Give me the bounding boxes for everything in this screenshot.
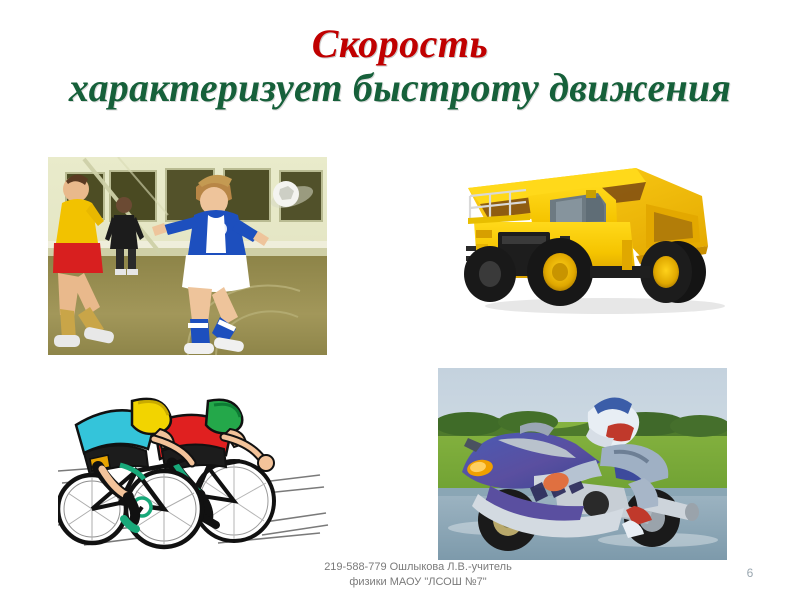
slide-canvas: Скорость характеризует быстроту движения xyxy=(0,0,800,600)
motorcycle-graphic xyxy=(438,368,727,560)
football-photo-graphic xyxy=(48,157,327,355)
front-wheel xyxy=(527,238,593,306)
left-wheel xyxy=(464,246,516,302)
footer-credit: 219-588-779 Ошлыкова Л.В.-учитель физики… xyxy=(238,560,598,590)
page-title: Скорость характеризует быстроту движения xyxy=(0,22,800,111)
title-line-2: характеризует быстроту движения xyxy=(0,65,800,111)
footer-line-1: 219-588-779 Ошлыкова Л.В.-учитель xyxy=(238,560,598,575)
dump-truck-photo xyxy=(440,160,750,315)
page-number: 6 xyxy=(735,566,765,580)
motorcycle-photo xyxy=(438,368,727,560)
cyclists-graphic xyxy=(58,375,330,550)
dump-truck-graphic xyxy=(440,160,750,315)
football-photo xyxy=(48,157,327,355)
title-line-1: Скорость xyxy=(0,22,800,65)
cyclists-clipart xyxy=(58,375,330,550)
footer-line-2: физики МАОУ "ЛСОШ №7" xyxy=(238,575,598,590)
